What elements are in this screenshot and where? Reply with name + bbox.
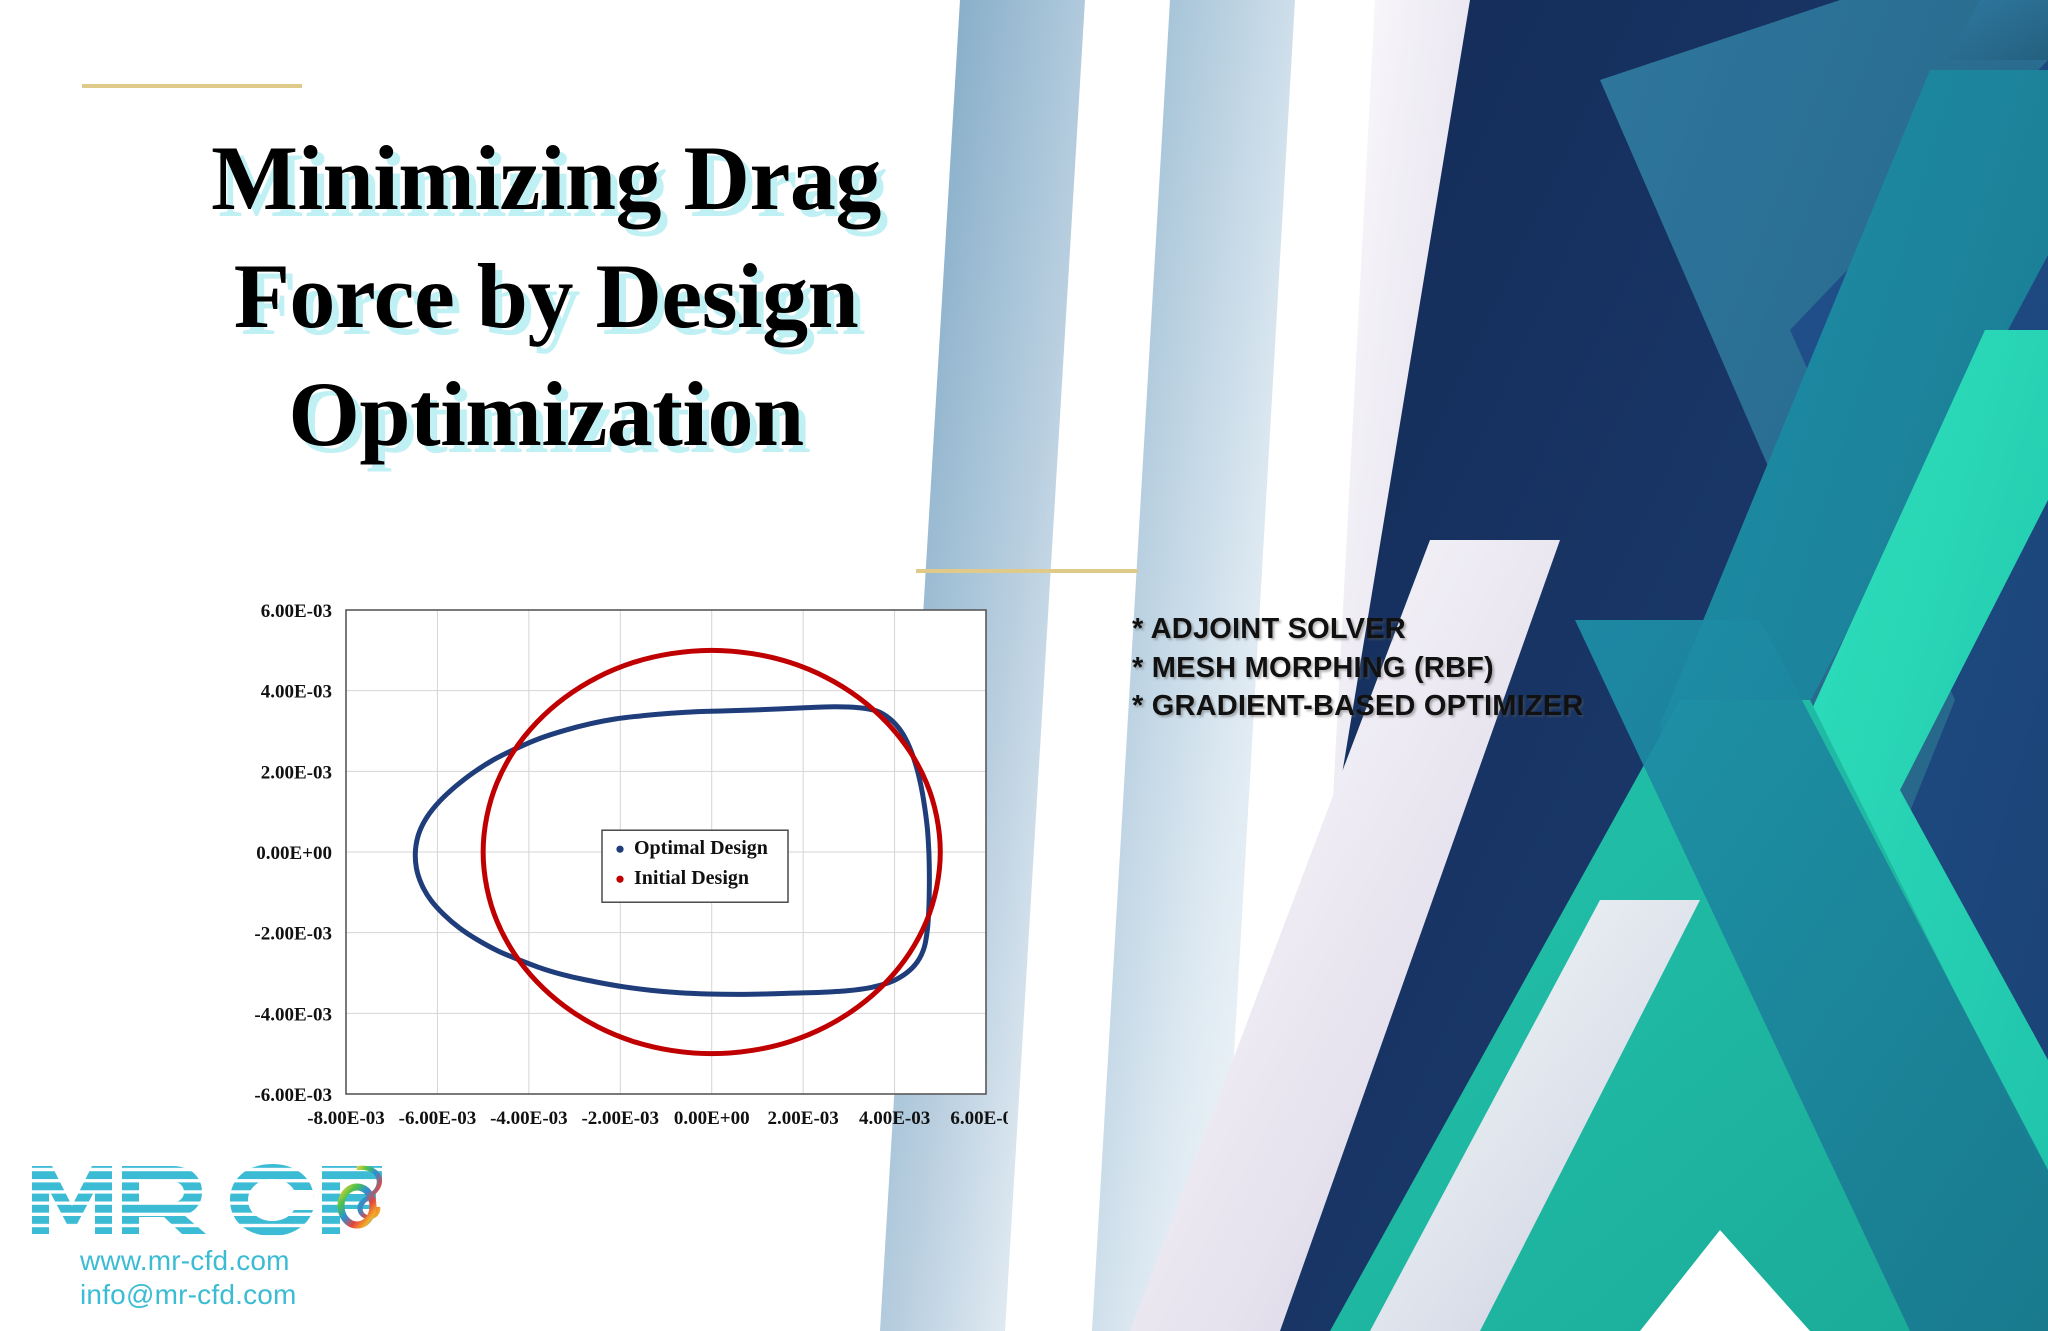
x-axis-tick-label: 2.00E-03 [768, 1108, 839, 1129]
title-line-1: Minimizing Drag [96, 120, 996, 238]
x-axis-tick-label: -8.00E-03 [307, 1108, 385, 1129]
legend-marker-initial-design [616, 876, 623, 883]
chart-legend: Optimal DesignInitial Design [602, 830, 788, 902]
title-line-3: Optimization [96, 356, 996, 474]
x-axis-tick-label: 0.00E+00 [674, 1108, 750, 1129]
x-axis-tick-label: -6.00E-03 [399, 1108, 477, 1129]
y-axis-tick-label: -4.00E-03 [254, 1004, 332, 1025]
y-axis-tick-label: 2.00E-03 [261, 762, 332, 783]
brand-contact: www.mr-cfd.com info@mr-cfd.com [26, 1244, 426, 1312]
page-title: Minimizing Drag Force by Design Optimiza… [96, 120, 996, 473]
x-axis-tick-label: -2.00E-03 [581, 1108, 659, 1129]
email-text[interactable]: info@mr-cfd.com [80, 1278, 426, 1312]
design-comparison-chart: 6.00E-034.00E-032.00E-030.00E+00-2.00E-0… [208, 592, 1008, 1152]
title-line-2: Force by Design [96, 238, 996, 356]
y-axis-tick-label: 0.00E+00 [256, 843, 332, 864]
y-axis-tick-label: 6.00E-03 [261, 601, 332, 622]
x-axis-tick-label: -4.00E-03 [490, 1108, 568, 1129]
chart-svg: 6.00E-034.00E-032.00E-030.00E+00-2.00E-0… [208, 592, 1008, 1152]
gold-rule-middle [916, 569, 1138, 573]
brand-logo-block: www.mr-cfd.com info@mr-cfd.com [26, 1160, 426, 1312]
mr-cfd-logo-icon [26, 1160, 386, 1238]
y-axis-tick-label: 4.00E-03 [261, 682, 332, 703]
legend-label-optimal-design: Optimal Design [634, 837, 768, 859]
x-axis-tick-label: 4.00E-03 [859, 1108, 930, 1129]
feature-item-gradient-optimizer: * GRADIENT-BASED OPTIMIZER [1132, 687, 1584, 726]
y-axis-tick-label: -2.00E-03 [254, 924, 332, 945]
mr-cfd-logo[interactable] [26, 1160, 426, 1238]
website-text[interactable]: www.mr-cfd.com [80, 1244, 426, 1278]
x-axis-tick-label: 6.00E-03 [950, 1108, 1008, 1129]
legend-marker-optimal-design [616, 846, 623, 853]
y-axis-tick-label: -6.00E-03 [254, 1085, 332, 1106]
feature-item-adjoint-solver: * ADJOINT SOLVER [1132, 610, 1584, 649]
feature-list: * ADJOINT SOLVER * MESH MORPHING (RBF) *… [1132, 610, 1584, 726]
legend-label-initial-design: Initial Design [634, 867, 749, 889]
feature-item-mesh-morphing: * MESH MORPHING (RBF) [1132, 649, 1584, 688]
gold-rule-top [82, 84, 302, 88]
slide-canvas: Minimizing Drag Force by Design Optimiza… [0, 0, 2048, 1331]
